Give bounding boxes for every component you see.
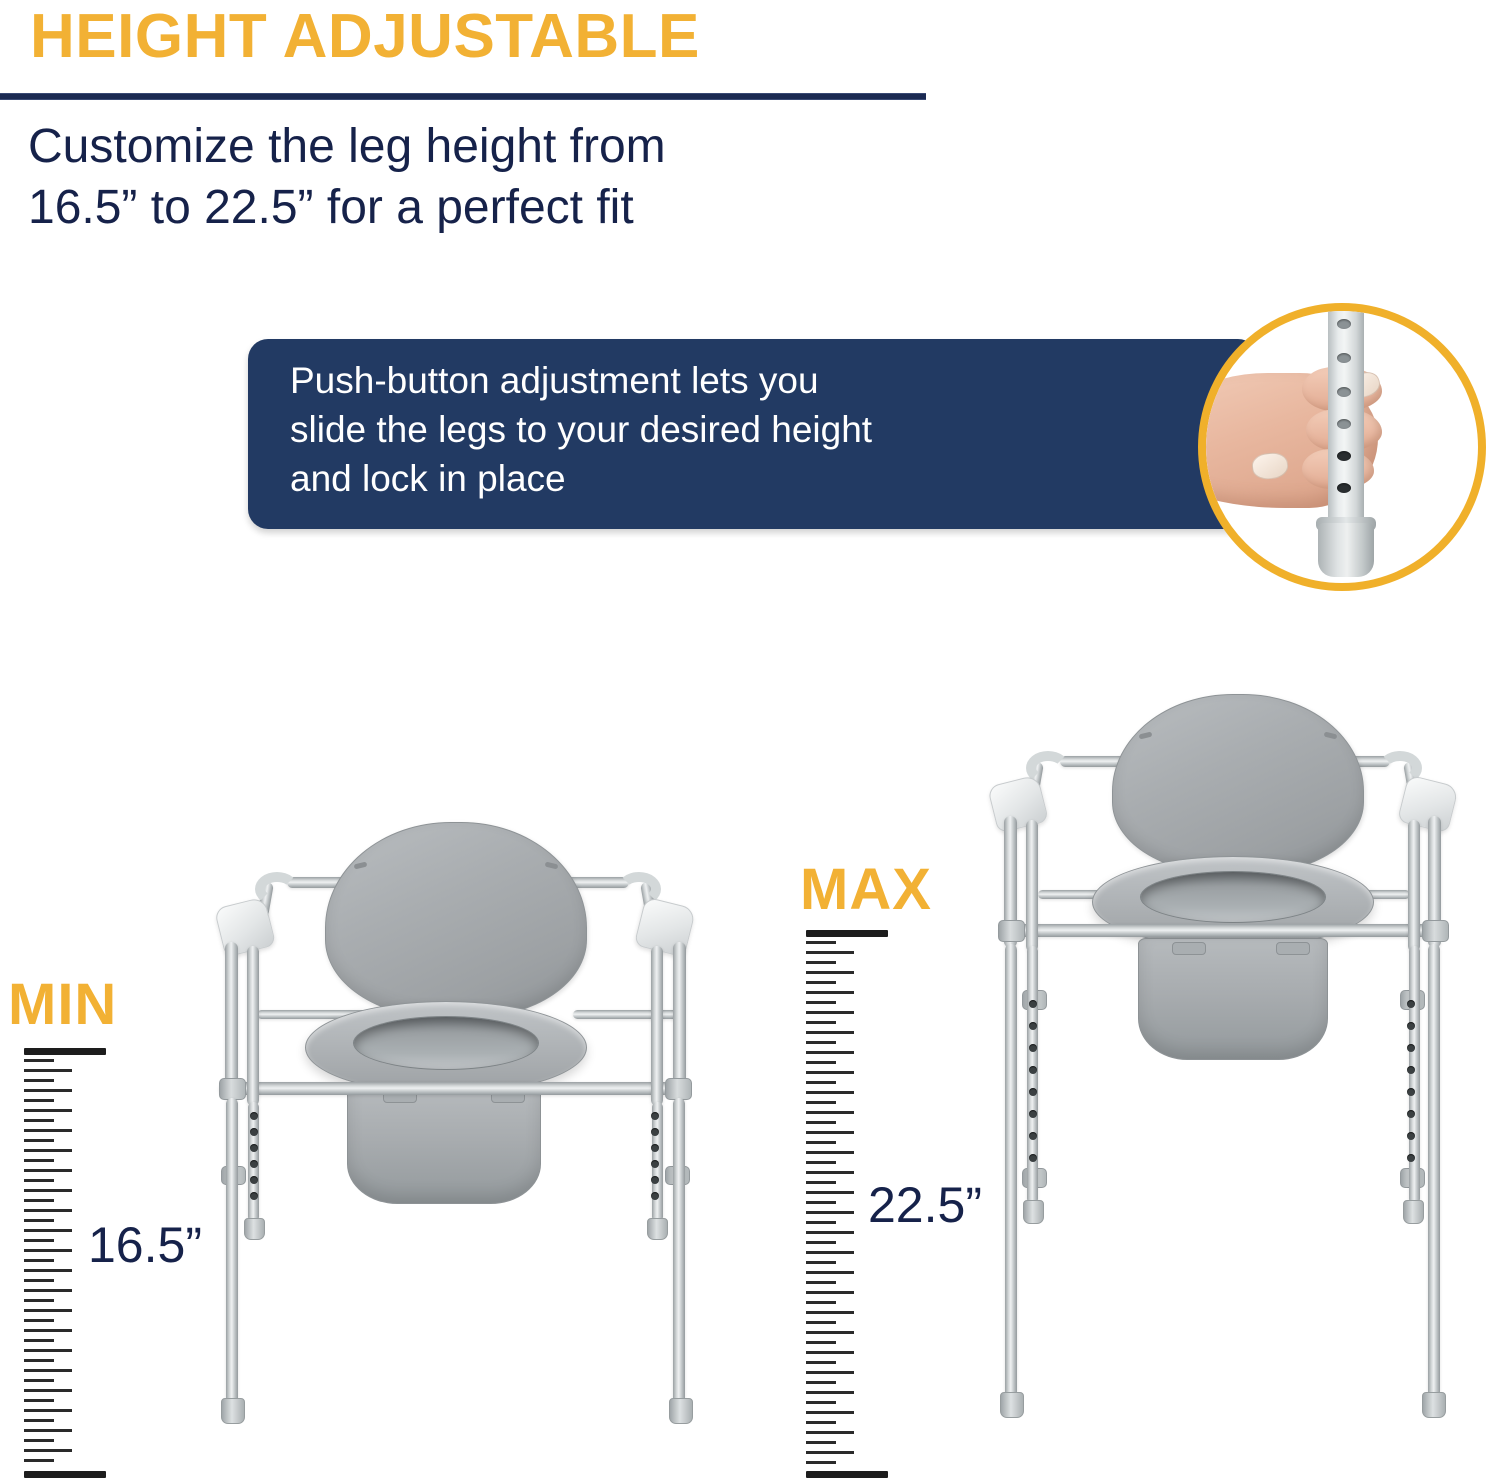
lid-notch-right-max	[1324, 732, 1338, 740]
subtitle-line-2: 16.5” to 22.5” for a perfect fit	[28, 177, 928, 238]
ruler-tick	[806, 1031, 854, 1034]
commode-chair-min	[195, 820, 715, 1480]
ruler-tick	[806, 1321, 836, 1324]
title-divider-rule	[0, 93, 926, 100]
ruler-tick	[24, 1079, 54, 1082]
ruler-tick	[24, 1349, 72, 1352]
subtitle-line-1: Customize the leg height from	[28, 116, 928, 177]
ruler-tick	[24, 1309, 72, 1312]
ruler-tick	[806, 1271, 854, 1274]
commode-chair-max	[960, 688, 1480, 1480]
toilet-lid-max	[1112, 694, 1364, 874]
leg-front-right-lower	[673, 1098, 685, 1406]
ruler-tick	[806, 1091, 854, 1094]
ruler-tick	[24, 1319, 54, 1322]
foot-front-left-max	[1000, 1392, 1024, 1418]
ruler-tick	[24, 1389, 72, 1392]
ruler-tick	[24, 1289, 72, 1292]
commode-bucket-max	[1138, 938, 1328, 1060]
ruler-tick	[24, 1339, 54, 1342]
ruler-tick	[24, 1109, 72, 1112]
ruler-tick	[806, 1141, 836, 1144]
leg-rubber-tip	[1318, 523, 1374, 577]
rear-rail-right	[573, 1010, 683, 1019]
seat-opening	[353, 1016, 539, 1070]
ruler-tick	[806, 1161, 836, 1164]
feature-callout-text: Push-button adjustment lets you slide th…	[290, 357, 1190, 503]
ruler-tick	[806, 941, 836, 944]
seat-opening-max	[1140, 871, 1326, 923]
lid-notch-left-max	[1139, 732, 1153, 740]
leg-clamp-front-right-max	[1422, 920, 1449, 942]
ruler-tick	[24, 1359, 54, 1362]
subtitle: Customize the leg height from 16.5” to 2…	[28, 116, 928, 239]
ruler-tick	[24, 1139, 54, 1142]
ruler-tick	[24, 1329, 72, 1332]
page-title: HEIGHT ADJUSTABLE	[30, 4, 700, 69]
inset-clip	[1206, 311, 1478, 583]
callout-line-1: Push-button adjustment lets you	[290, 357, 1190, 406]
ruler-tick	[806, 1391, 854, 1394]
infographic-page: HEIGHT ADJUSTABLE Customize the leg heig…	[0, 0, 1500, 1484]
ruler-tick	[806, 1401, 836, 1404]
ruler-tick	[24, 1459, 54, 1462]
ruler-tick	[806, 1051, 854, 1054]
ruler-tick	[806, 1311, 854, 1314]
leg-rear-left-upper-max	[1026, 820, 1038, 952]
ruler-tick	[806, 1221, 836, 1224]
leg-front-left-lower	[226, 1098, 238, 1406]
lid-notch-right	[545, 862, 559, 870]
ruler-tick	[24, 1429, 72, 1432]
leg-rear-left-lower-max	[1027, 946, 1038, 1204]
ruler-tick	[24, 1259, 54, 1262]
leg-hole-1	[1337, 319, 1351, 329]
adjustable-leg-tube	[1328, 311, 1364, 539]
ruler-tick	[806, 1261, 836, 1264]
ruler-tick	[806, 971, 854, 974]
ruler-tick	[806, 1431, 854, 1434]
ruler-tick	[806, 1111, 854, 1114]
ruler-tick	[24, 1299, 54, 1302]
ruler-tick	[24, 1439, 54, 1442]
armrest-pad-right	[634, 896, 697, 957]
ruler-tick	[806, 1251, 854, 1254]
ruler-tick	[24, 1279, 54, 1282]
ruler-tick	[806, 1411, 854, 1414]
ruler-tick	[806, 1151, 854, 1154]
max-label: MAX	[800, 861, 932, 919]
ruler-tick	[806, 1201, 836, 1204]
ruler-tick	[806, 1181, 836, 1184]
ruler-tick	[24, 1409, 72, 1412]
ruler-tick	[24, 1219, 54, 1222]
ruler-tick	[806, 1361, 836, 1364]
leg-hole-2	[1337, 353, 1351, 363]
ruler-tick	[24, 1069, 72, 1072]
ruler-tick	[806, 1381, 836, 1384]
ruler-tick	[806, 1061, 836, 1064]
leg-rear-right-upper-max	[1408, 820, 1420, 952]
foot-rear-left-max	[1023, 1200, 1044, 1224]
leg-rear-right-lower-max	[1409, 946, 1420, 1204]
ruler-tick	[24, 1059, 54, 1062]
callout-line-3: and lock in place	[290, 455, 1190, 504]
bucket-handle-left-max	[1172, 942, 1206, 955]
seat-support-rail-max	[1000, 924, 1444, 937]
ruler-tick	[806, 1081, 836, 1084]
leg-hole-3	[1337, 387, 1351, 397]
ruler-bottom-cap	[806, 1471, 888, 1478]
ruler-tick	[24, 1089, 72, 1092]
ruler-tick	[24, 1379, 54, 1382]
ruler-tick	[24, 1129, 72, 1132]
ruler-tick	[24, 1239, 54, 1242]
ruler-tick	[24, 1199, 54, 1202]
ruler-tick	[806, 1191, 854, 1194]
hand-adjusting-leg-inset	[1198, 303, 1486, 591]
leg-rear-right-upper	[651, 946, 663, 1106]
ruler-tick	[806, 1441, 836, 1444]
foot-front-right-max	[1422, 1392, 1446, 1418]
commode-bucket	[347, 1086, 541, 1204]
ruler-top-cap	[806, 930, 888, 937]
bucket-handle-right-max	[1276, 942, 1310, 955]
ruler-tick	[806, 1341, 836, 1344]
ruler-tick	[806, 1241, 836, 1244]
foot-front-left	[221, 1398, 245, 1424]
ruler-tick	[24, 1419, 54, 1422]
ruler-tick	[24, 1119, 54, 1122]
leg-front-left-lower-max	[1005, 944, 1017, 1400]
ruler-tick	[24, 1149, 72, 1152]
ruler-tick	[806, 1021, 836, 1024]
foot-front-right	[669, 1398, 693, 1424]
ruler-tick	[806, 1211, 854, 1214]
ruler-tick	[806, 1131, 854, 1134]
leg-clamp-front-left	[219, 1078, 246, 1100]
leg-rear-left-upper	[247, 946, 259, 1106]
ruler-tick	[24, 1189, 72, 1192]
ruler-tick	[24, 1449, 72, 1452]
leg-hole-5	[1337, 451, 1351, 461]
foot-rear-left	[244, 1218, 265, 1240]
ruler-tick	[806, 1171, 854, 1174]
leg-hole-6	[1337, 483, 1351, 493]
ruler-tick	[24, 1229, 72, 1232]
ruler-tick	[24, 1169, 72, 1172]
foot-rear-right-max	[1403, 1200, 1424, 1224]
ruler-tick	[806, 1101, 836, 1104]
lid-notch-left	[354, 862, 368, 870]
min-label: MIN	[8, 976, 117, 1034]
ruler-tick	[24, 1399, 54, 1402]
ruler-tick	[806, 1461, 836, 1464]
ruler-tick	[24, 1269, 72, 1272]
ruler-tick	[806, 1281, 836, 1284]
ruler-tick	[806, 981, 836, 984]
leg-clamp-front-right	[665, 1078, 692, 1100]
ruler-tick	[24, 1369, 72, 1372]
ruler-tick	[806, 1451, 854, 1454]
feature-callout-box: Push-button adjustment lets you slide th…	[248, 339, 1258, 529]
ruler-tick	[806, 1041, 836, 1044]
ruler-tick	[806, 1121, 836, 1124]
ruler-tick	[806, 1351, 854, 1354]
ruler-tick	[24, 1209, 72, 1212]
min-measurement-text: 16.5”	[88, 1216, 202, 1274]
ruler-tick	[806, 1071, 854, 1074]
ruler-tick	[806, 1291, 854, 1294]
seat-support-rail	[219, 1082, 671, 1095]
ruler-tick	[806, 1331, 854, 1334]
leg-clamp-front-left-max	[998, 920, 1025, 942]
ruler-tick	[24, 1179, 54, 1182]
ruler-tick	[806, 951, 854, 954]
ruler-tick	[24, 1249, 72, 1252]
leg-front-right-lower-max	[1428, 944, 1440, 1400]
ruler-tick	[24, 1099, 54, 1102]
ruler-tick	[806, 1001, 836, 1004]
ruler-tick	[806, 1371, 854, 1374]
ruler-tick	[806, 961, 836, 964]
ruler-tick	[806, 1421, 836, 1424]
leg-hole-4	[1337, 419, 1351, 429]
ruler-top-cap	[24, 1048, 106, 1055]
toilet-lid	[325, 822, 587, 1018]
ruler-tick	[806, 991, 854, 994]
foot-rear-right	[647, 1218, 668, 1240]
ruler-tick	[806, 1301, 836, 1304]
ruler-tick	[24, 1159, 54, 1162]
ruler-tick	[806, 1231, 854, 1234]
callout-line-2: slide the legs to your desired height	[290, 406, 1190, 455]
ruler-bottom-cap	[24, 1471, 106, 1478]
ruler-tick	[806, 1011, 854, 1014]
